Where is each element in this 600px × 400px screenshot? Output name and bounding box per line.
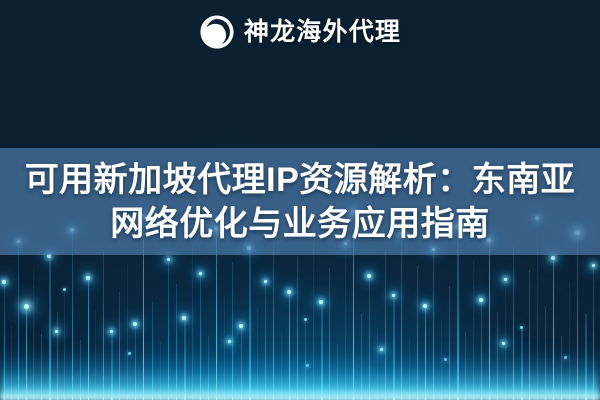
beam-dot [592,264,595,267]
beam-dot [2,280,6,284]
brand-name: 神龙海外代理 [244,20,401,45]
beam-dot [479,298,483,302]
beam-dot [63,288,66,291]
beam-dot [182,316,186,320]
beam-dot [133,322,137,326]
beam-dot [319,300,323,304]
beam-dot [520,326,523,329]
beam-dot [110,330,113,333]
title-line-2: 网络优化与业务应用指南 [110,202,490,246]
spiral-swirl-icon [199,14,235,50]
beam-dot [86,276,90,280]
title-line-1: 可用新加坡代理IP资源解析：东南亚 [25,158,576,202]
beam-dot [304,318,307,321]
background-floor-core [0,386,600,400]
beam-dot [287,290,291,294]
beam-dot [264,280,267,283]
beam-dot [423,304,427,308]
brand-logo: 神龙海外代理 [0,14,600,50]
beam-dot [167,258,170,261]
beam-dot [551,256,555,260]
banner-image: 神龙海外代理 可用新加坡代理IP资源解析：东南亚 网络优化与业务应用指南 [0,0,600,400]
beam-dot [392,294,395,297]
beam-dot [55,330,58,333]
beam-dot [199,272,202,275]
page-title: 可用新加坡代理IP资源解析：东南亚 网络优化与业务应用指南 [0,148,600,255]
beam-dot [367,274,371,278]
beam-dot [24,304,29,309]
beam-dot [504,278,507,281]
beam-dot [239,324,243,328]
